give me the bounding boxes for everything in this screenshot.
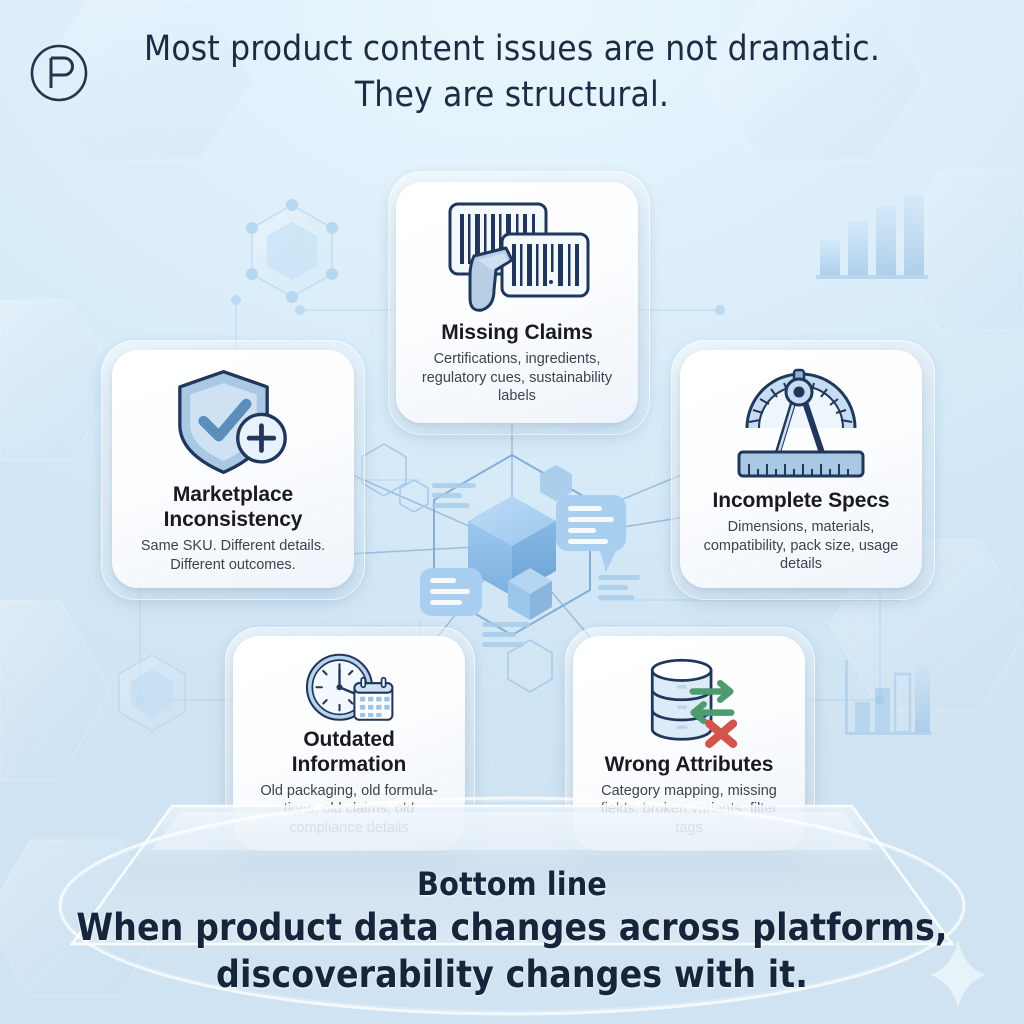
bottom-banner: Bottom line When product data changes ac… bbox=[0, 864, 1024, 998]
infographic-canvas: Most product content issues are not dram… bbox=[0, 0, 1024, 1024]
banner-line-1: When product data changes across platfor… bbox=[0, 904, 1024, 951]
banner-line-2: discoverability changes with it. bbox=[0, 951, 1024, 998]
banner-label: Bottom line bbox=[0, 864, 1024, 904]
